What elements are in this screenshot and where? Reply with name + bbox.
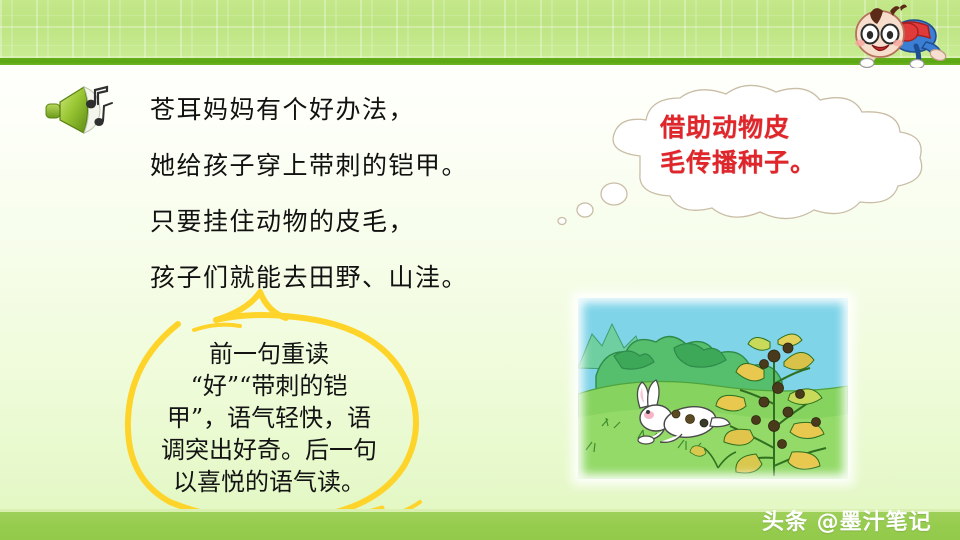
callout-line-4: 调突出好奇。后一句 [128, 434, 410, 466]
watermark-text: 头条 @墨汁笔记 [762, 504, 932, 536]
speaker-icon[interactable] [44, 82, 118, 138]
callout-text: 前一句重读 “好”“带刺的铠 甲”，语气轻快，语 调突出好奇。后一句 以喜悦的语… [128, 338, 410, 498]
slide-canvas: 苍耳妈妈有个好办法， 她给孩子穿上带刺的铠甲。 只要挂住动物的皮毛， 孩子们就能… [0, 0, 960, 540]
poem-line-3: 只要挂住动物的皮毛， [150, 194, 580, 250]
callout-line-5: 以喜悦的语气读。 [128, 466, 410, 498]
callout-line-2: “好”“带刺的铠 [128, 370, 410, 402]
header-divider-rule [0, 58, 960, 65]
header-band [0, 0, 960, 58]
thought-line-2: 毛传播种子。 [660, 145, 860, 180]
poem-line-2: 她给孩子穿上带刺的铠甲。 [150, 138, 580, 194]
poem-line-1: 苍耳妈妈有个好办法， [150, 82, 580, 138]
callout-line-3: 甲”，语气轻快，语 [128, 402, 410, 434]
poem-text-block: 苍耳妈妈有个好办法， 她给孩子穿上带刺的铠甲。 只要挂住动物的皮毛， 孩子们就能… [150, 82, 580, 306]
thought-line-1: 借助动物皮 [660, 110, 860, 145]
rabbit-cocklebur-illustration [578, 298, 848, 479]
crawling-baby-mascot-icon [838, 2, 956, 68]
callout-line-1: 前一句重读 [128, 338, 410, 370]
thought-bubble-text: 借助动物皮 毛传播种子。 [660, 110, 860, 180]
